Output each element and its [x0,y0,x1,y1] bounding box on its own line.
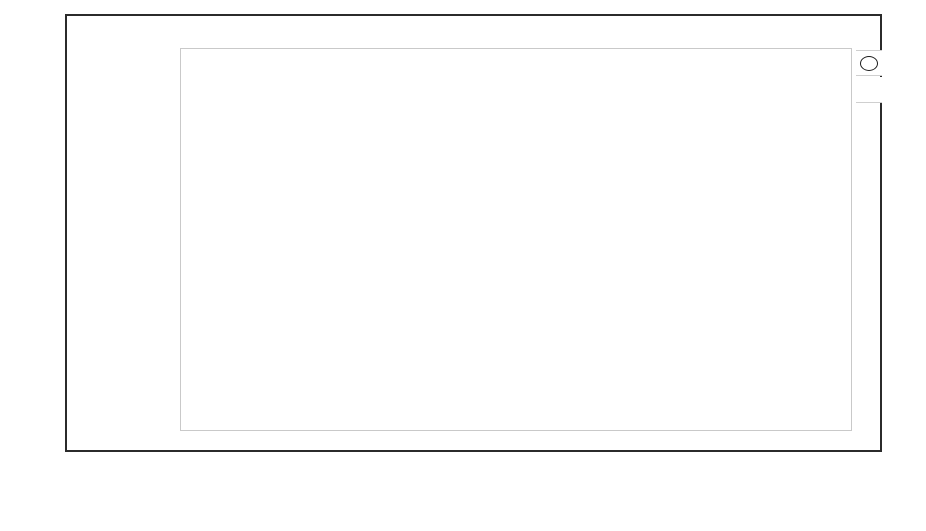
y-axis-tick-labels [103,48,175,431]
x-axis-tick-labels [180,435,852,455]
add-button[interactable] [856,77,882,103]
channel-number-icon [860,56,878,71]
side-control-strip [856,50,882,110]
eye-diagram-plot-area[interactable] [180,48,852,431]
plot-header [67,18,880,44]
eye-diagram-window [65,14,882,452]
channel-badge-button[interactable] [856,50,882,76]
eye-diagram-density-canvas [181,49,851,430]
